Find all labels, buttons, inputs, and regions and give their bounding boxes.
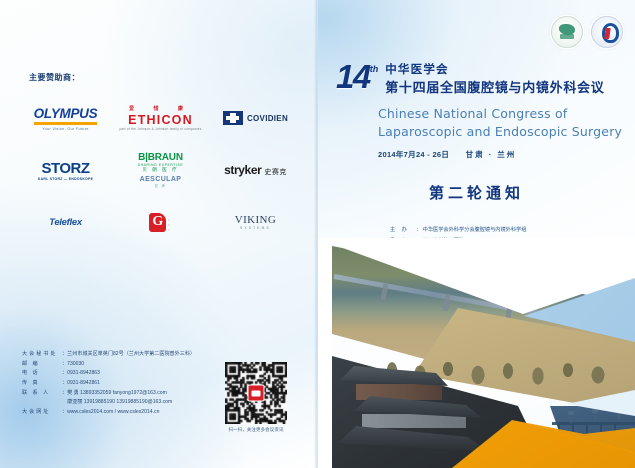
sponsor-logo-viking: VIKING SYSTEMS xyxy=(208,214,303,230)
chinese-title-group: 中华医学会 第十四届全国腹腔镜与内镜外科会议 xyxy=(385,62,604,96)
g-mark-icon: G xyxy=(149,213,166,232)
title-first-line: 14 th 中华医学会 第十四届全国腹腔镜与内镜外科会议 xyxy=(336,62,626,96)
organizer-row-host: 主 办 ： 中华医学会外科学分会腹腔镜与内镜外科学组 xyxy=(390,225,635,236)
bbraun-wordmark: B|BRAUN xyxy=(138,152,184,163)
sponsor-heading: 主要赞助商： xyxy=(29,72,80,83)
sponsor-logo-olympus: OLYMPUS Your Vision, Our Future xyxy=(18,106,113,131)
organizer-host-name: 中华医学会外科学分会腹腔镜与内镜外科学组 xyxy=(423,227,527,233)
sponsor-logo-ethicon: 爱 惜 康 ETHICON part of the Johnson & John… xyxy=(113,105,208,131)
sponsor-logo-teleflex: Teleflex xyxy=(18,217,113,228)
lanzhou-university-second-hospital-emblem-icon xyxy=(591,16,623,48)
viking-tagline: SYSTEMS xyxy=(235,226,277,230)
ethicon-wordmark: ETHICON xyxy=(119,113,201,127)
organizer-value-group: ： 中华医学会外科学分会腹腔镜与内镜外科学组 xyxy=(416,225,635,236)
contact-label: 邮 编 xyxy=(22,360,62,370)
back-cover-panel: 主要赞助商： OLYMPUS Your Vision, Our Future 爱… xyxy=(0,0,318,468)
sponsor-row: Teleflex G 。。。 VIKING SYSTEMS xyxy=(18,196,303,248)
aesculap-wordmark: AESCULAP xyxy=(140,176,182,183)
stryker-wordmark: stryker xyxy=(224,163,261,177)
conference-website-url[interactable]: www.csles2014.com / www.csles2014.cn xyxy=(67,408,214,418)
contact-label: 传 真 xyxy=(22,379,62,389)
contact-value: 兰州市城关区萃英门82号（兰州大学第二医院普外三科） xyxy=(67,350,214,360)
edition-number: 14 xyxy=(336,62,370,92)
sponsor-logo-grid: OLYMPUS Your Vision, Our Future 爱 惜 康 ET… xyxy=(18,92,303,248)
congress-title-en-line2: Laparoscopic and Endoscopic Surgery xyxy=(378,123,626,141)
congress-title-cn: 第十四届全国腹腔镜与内镜外科会议 xyxy=(385,79,604,97)
sponsor-logo-covidien: COVIDIEN xyxy=(208,111,303,125)
congress-title-en: Chinese National Congress of Laparoscopi… xyxy=(378,105,626,141)
contact-value: 730030 xyxy=(67,360,214,370)
contact-label: 大会网址 xyxy=(22,408,62,418)
photo-collage xyxy=(318,238,635,468)
contact-row-website: 大会网址 ： www.csles2014.com / www.csles2014… xyxy=(22,408,214,418)
aesculap-tagline-cn: 蛇 牌 xyxy=(140,183,182,188)
olympus-tagline: Your Vision, Our Future xyxy=(34,127,98,131)
storz-wordmark: STORZ xyxy=(38,160,93,177)
olympus-accent-bar xyxy=(34,122,98,125)
date-location-line: 2014年7月24 - 26日 甘肃 · 兰州 xyxy=(378,149,626,160)
sponsor-row: OLYMPUS Your Vision, Our Future 爱 惜 康 ET… xyxy=(18,92,303,144)
qr-code-caption: 扫一扫，关注更多会议资讯 xyxy=(225,427,287,433)
congress-title-en-line1: Chinese National Congress of xyxy=(378,105,626,123)
teleflex-wordmark: Teleflex xyxy=(49,217,82,228)
contact-row-fax: 传 真 ： 0931-8942861 xyxy=(22,379,214,389)
notice-title: 第二轮通知 xyxy=(318,182,635,203)
contact-info-block: 大会秘书处 ： 兰州市城关区萃英门82号（兰州大学第二医院普外三科） 邮 编 ：… xyxy=(22,350,214,418)
contact-label: 联 系 人 xyxy=(22,389,62,408)
brochure-spread: 主要赞助商： OLYMPUS Your Vision, Our Future 爱… xyxy=(0,0,635,468)
contact-label: 大会秘书处 xyxy=(22,350,62,360)
contact-row-persons: 联 系 人 ： 樊 勇 13893352059 fanyong1972@163.… xyxy=(22,389,214,408)
contact-value: 0931-8942861 xyxy=(67,379,214,389)
congress-location: 甘肃 · 兰州 xyxy=(466,150,517,159)
olympus-wordmark: OLYMPUS xyxy=(34,106,98,121)
organization-name-cn: 中华医学会 xyxy=(385,63,604,79)
sponsor-row: STORZ KARL STORZ — ENDOSKOPE B|BRAUN SHA… xyxy=(18,144,303,196)
contact-value: 0931-8942863 xyxy=(67,369,214,379)
storz-tagline: KARL STORZ — ENDOSKOPE xyxy=(38,177,93,181)
contact-row-secretariat: 大会秘书处 ： 兰州市城关区萃英门82号（兰州大学第二医院普外三科） xyxy=(22,350,214,360)
bridge-lamp xyxy=(570,414,572,423)
society-emblems xyxy=(551,16,623,48)
wechat-logo-icon xyxy=(248,385,265,402)
viking-wordmark: VIKING xyxy=(235,214,277,226)
contact-person-1: 樊 勇 13893352059 fanyong1972@163.com xyxy=(67,390,167,396)
contact-person-2: 康亚丽 13919885190 13919885190@163.com xyxy=(67,398,214,408)
sponsor-logo-bbraun: B|BRAUN SHARING EXPERTISE 贝 朗 医 疗 AESCUL… xyxy=(113,152,208,188)
title-block: 14 th 中华医学会 第十四届全国腹腔镜与内镜外科会议 Chinese Nat… xyxy=(336,62,626,160)
edition-suffix: th xyxy=(370,64,379,74)
ethicon-wordmark-cn: 爱 惜 康 xyxy=(119,105,201,112)
chinese-medical-association-emblem-icon xyxy=(551,16,583,48)
contact-row-phone: 电 话 ： 0931-8942863 xyxy=(22,369,214,379)
sponsor-logo-stryker: stryker 史赛克 xyxy=(208,163,303,177)
covidien-mark-icon xyxy=(223,111,243,125)
g-mark-side-text: 。。。 xyxy=(168,217,171,231)
organizer-label: 主 办 xyxy=(390,225,416,236)
front-cover-panel: 14 th 中华医学会 第十四届全国腹腔镜与内镜外科会议 Chinese Nat… xyxy=(318,0,635,468)
contact-row-postcode: 邮 编 ： 730030 xyxy=(22,360,214,370)
stryker-wordmark-cn: 史赛克 xyxy=(264,167,287,177)
qr-code-icon[interactable] xyxy=(225,362,287,424)
covidien-wordmark: COVIDIEN xyxy=(247,114,288,123)
ethicon-tagline: part of the Johnson & Johnson family of … xyxy=(119,127,201,131)
sponsor-logo-gmark: G 。。。 xyxy=(113,213,208,232)
sponsor-logo-storz: STORZ KARL STORZ — ENDOSKOPE xyxy=(18,160,113,181)
congress-date: 2014年7月24 - 26日 xyxy=(378,150,449,159)
bbraun-tagline-cn: 贝 朗 医 疗 xyxy=(138,167,184,173)
qr-code-block[interactable]: 扫一扫，关注更多会议资讯 xyxy=(225,362,287,433)
bridge-lamp xyxy=(594,412,596,421)
contact-value-group: 樊 勇 13893352059 fanyong1972@163.com 康亚丽 … xyxy=(67,389,214,408)
contact-label: 电 话 xyxy=(22,369,62,379)
organizer-colon: ： xyxy=(416,227,421,233)
g-mark-letter: G xyxy=(152,214,163,230)
